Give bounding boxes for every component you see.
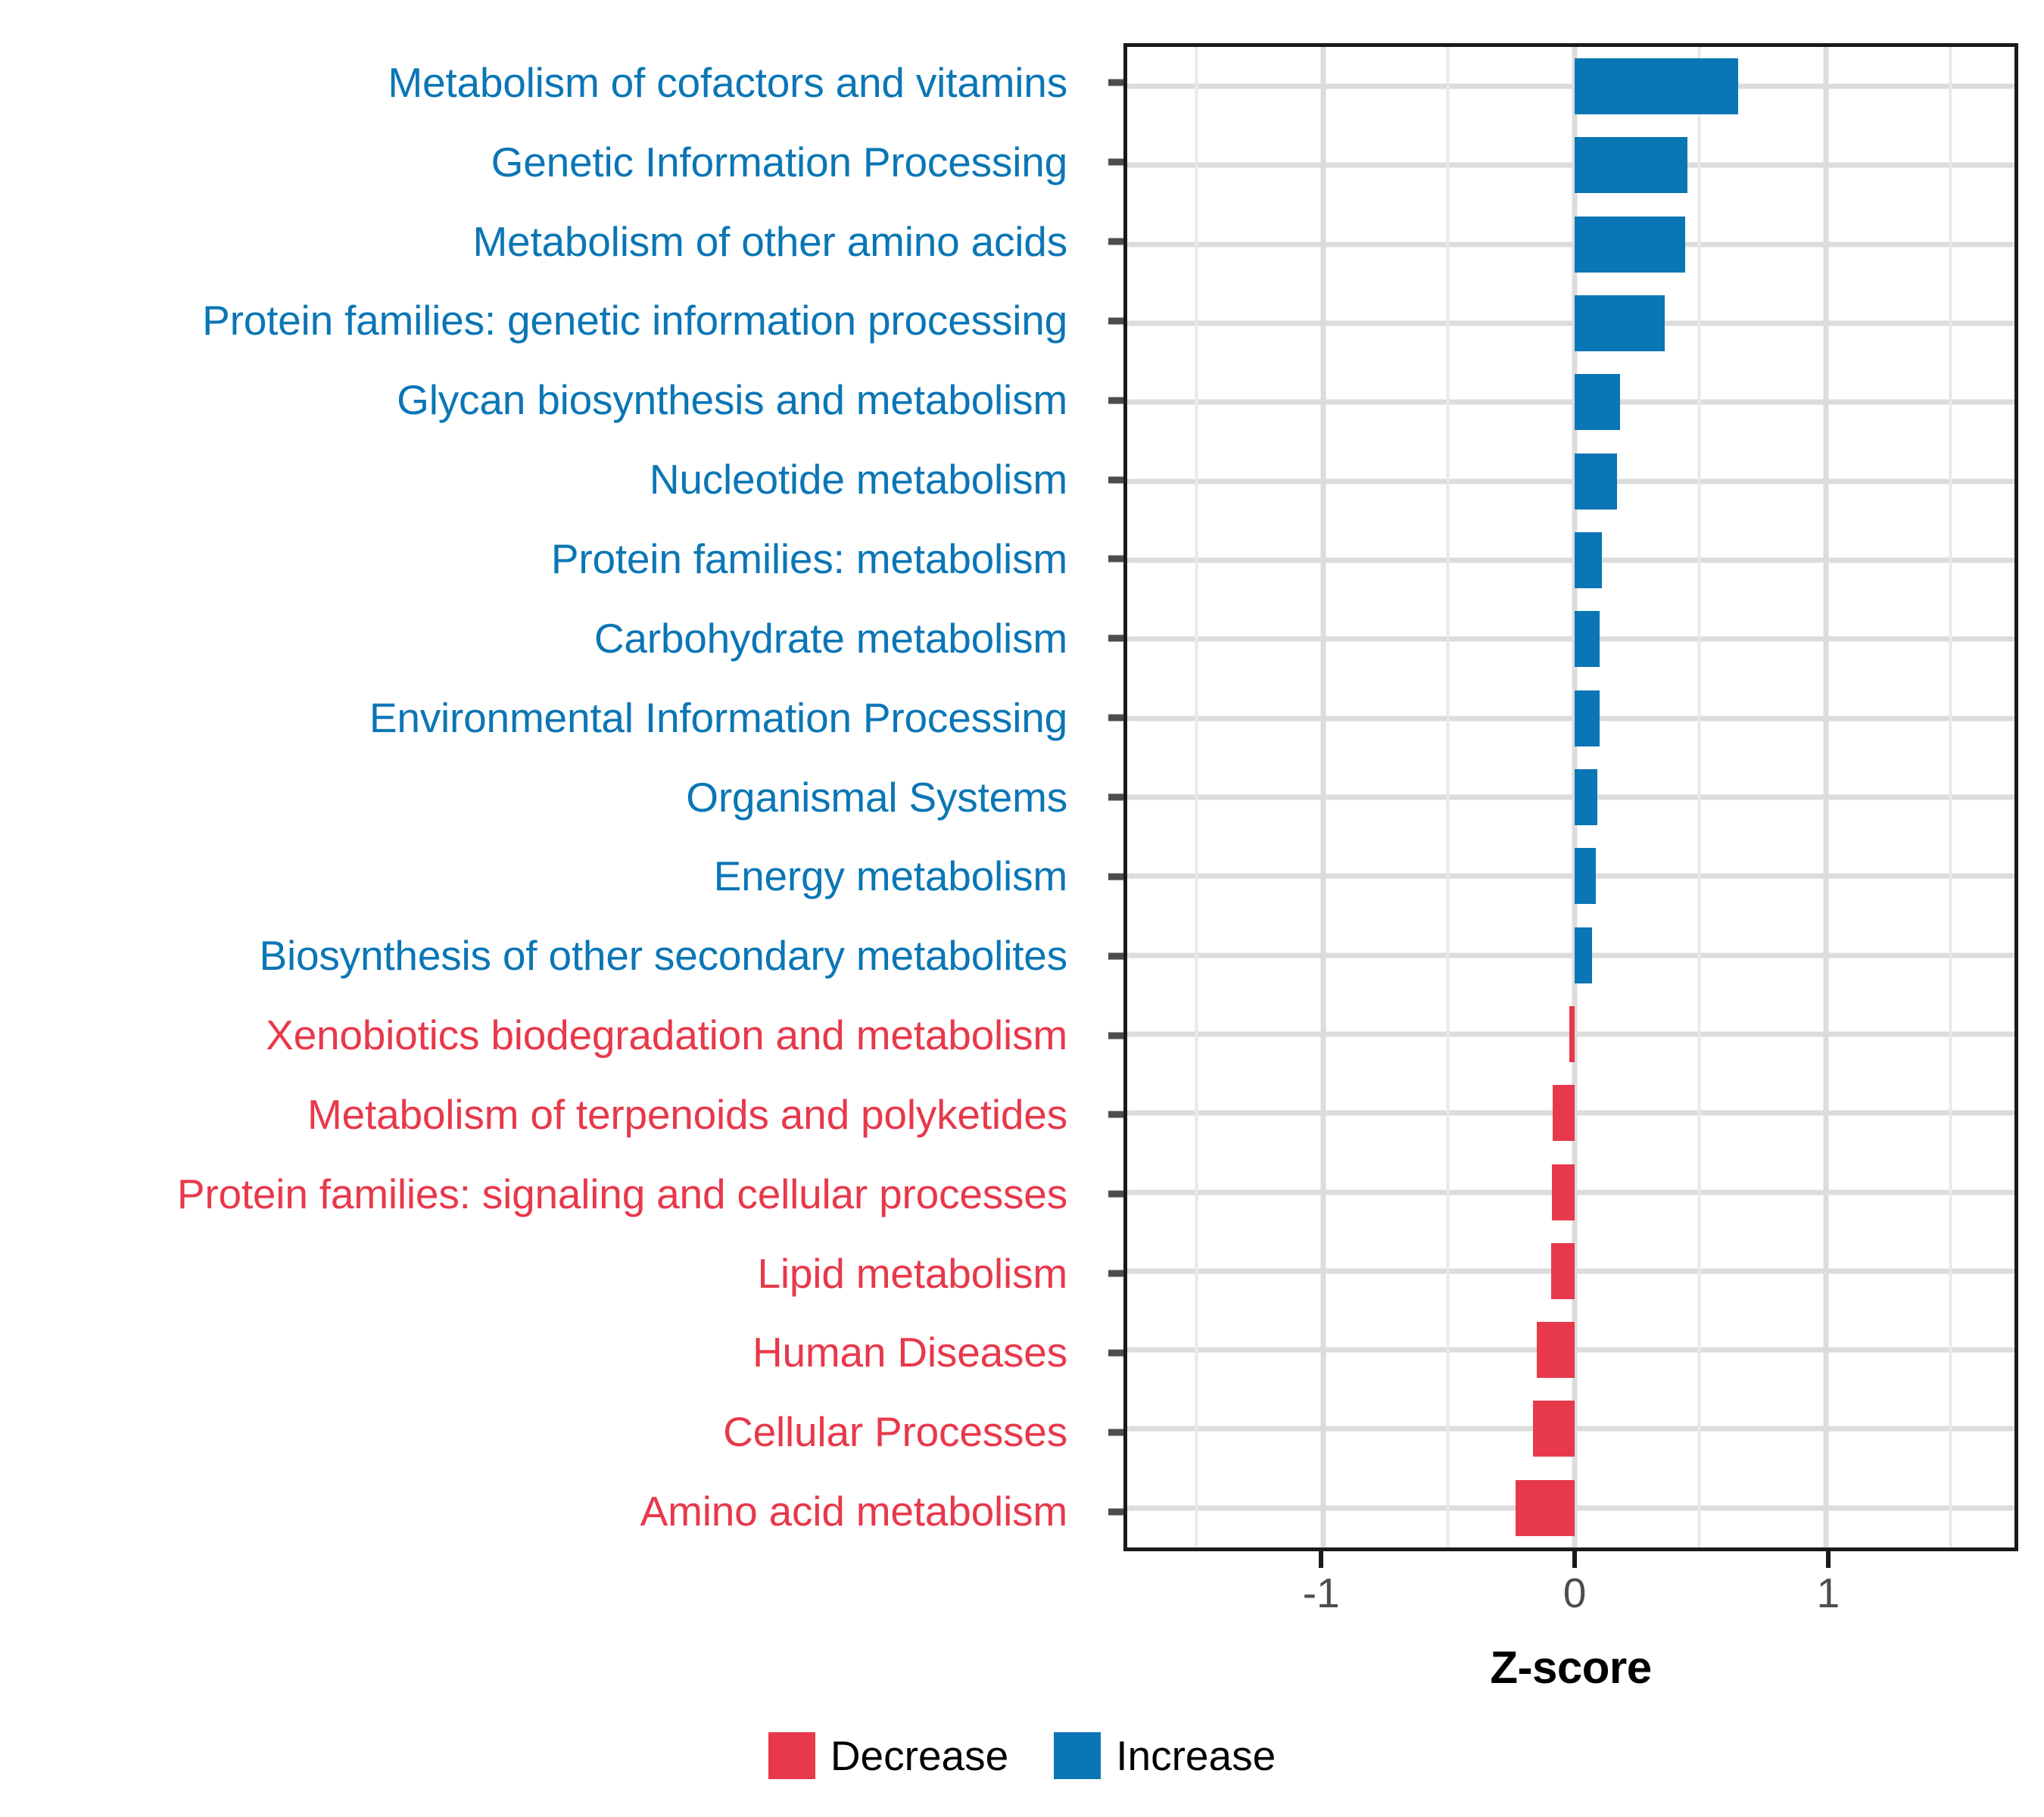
category-label: Nucleotide metabolism xyxy=(650,459,1067,500)
bar-row xyxy=(1127,1311,2014,1389)
x-axis-tick-label: 0 xyxy=(1563,1572,1587,1614)
kegg-zscore-barchart: Metabolism of cofactors and vitaminsGene… xyxy=(0,0,2044,1817)
x-axis-tick-mark xyxy=(1319,1551,1323,1568)
category-label-row: Energy metabolism xyxy=(0,837,1078,916)
category-label: Metabolism of terpenoids and polyketides xyxy=(307,1094,1067,1136)
bar-row xyxy=(1127,1074,2014,1152)
plot-panel xyxy=(1123,43,2018,1551)
category-label-row: Metabolism of terpenoids and polyketides xyxy=(0,1075,1078,1155)
category-tick-mark xyxy=(1108,715,1123,722)
bar xyxy=(1575,927,1592,983)
category-tick-mark xyxy=(1108,1429,1123,1435)
category-label-row: Protein families: metabolism xyxy=(0,519,1078,599)
bar-row xyxy=(1127,837,2014,915)
category-tick-row xyxy=(1108,1155,1123,1234)
category-axis-tickmarks xyxy=(1108,43,1123,1551)
category-tick-mark xyxy=(1108,1032,1123,1039)
category-tick-row xyxy=(1108,837,1123,916)
bar xyxy=(1537,1322,1575,1378)
category-label: Xenobiotics biodegradation and metabolis… xyxy=(266,1014,1067,1056)
category-tick-row xyxy=(1108,519,1123,599)
category-tick-mark xyxy=(1108,1270,1123,1277)
category-tick-mark xyxy=(1108,556,1123,563)
bar-row xyxy=(1127,1389,2014,1468)
bar xyxy=(1569,1006,1575,1062)
bar-row xyxy=(1127,442,2014,521)
bar xyxy=(1575,374,1620,430)
legend-label: Increase xyxy=(1116,1735,1276,1777)
bar xyxy=(1551,1243,1575,1299)
x-axis-tick-mark xyxy=(1826,1551,1831,1568)
category-label: Carbohydrate metabolism xyxy=(594,618,1067,659)
category-label: Lipid metabolism xyxy=(758,1253,1068,1295)
category-label-row: Protein families: genetic information pr… xyxy=(0,282,1078,361)
category-label-row: Protein families: signaling and cellular… xyxy=(0,1155,1078,1234)
category-tick-row xyxy=(1108,599,1123,678)
category-label-row: Metabolism of cofactors and vitamins xyxy=(0,43,1078,123)
category-label-row: Glycan biosynthesis and metabolism xyxy=(0,360,1078,440)
category-tick-row xyxy=(1108,758,1123,837)
category-label-row: Human Diseases xyxy=(0,1314,1078,1393)
bar-row xyxy=(1127,47,2014,126)
category-label: Protein families: metabolism xyxy=(551,538,1067,580)
category-label: Glycan biosynthesis and metabolism xyxy=(397,379,1067,421)
category-tick-mark xyxy=(1108,952,1123,959)
category-tick-mark xyxy=(1108,1508,1123,1515)
category-label-row: Organismal Systems xyxy=(0,758,1078,837)
bar xyxy=(1575,848,1596,904)
category-label-row: Environmental Information Processing xyxy=(0,678,1078,758)
category-label-row: Carbohydrate metabolism xyxy=(0,599,1078,678)
legend: DecreaseIncrease xyxy=(0,1732,2044,1779)
bar-row xyxy=(1127,284,2014,363)
category-label: Amino acid metabolism xyxy=(640,1491,1067,1532)
category-label-row: Xenobiotics biodegradation and metabolis… xyxy=(0,996,1078,1075)
bar-row xyxy=(1127,758,2014,837)
category-tick-row xyxy=(1108,678,1123,758)
square-swatch xyxy=(768,1732,815,1779)
category-label: Protein families: genetic information pr… xyxy=(202,300,1067,341)
x-axis-tick-label: 1 xyxy=(1817,1572,1840,1614)
category-label: Human Diseases xyxy=(752,1332,1067,1373)
bar-row xyxy=(1127,995,2014,1074)
category-label-row: Biosynthesis of other secondary metaboli… xyxy=(0,916,1078,996)
category-tick-row xyxy=(1108,1314,1123,1393)
category-tick-row xyxy=(1108,282,1123,361)
category-tick-row xyxy=(1108,43,1123,123)
bar-row xyxy=(1127,679,2014,758)
category-tick-row xyxy=(1108,202,1123,282)
category-tick-mark xyxy=(1108,1111,1123,1118)
category-tick-mark xyxy=(1108,476,1123,483)
category-label: Genetic Information Processing xyxy=(491,142,1067,183)
category-label-row: Lipid metabolism xyxy=(0,1234,1078,1314)
x-axis-title: Z-score xyxy=(1123,1641,2018,1694)
category-tick-row xyxy=(1108,996,1123,1075)
category-axis-labels: Metabolism of cofactors and vitaminsGene… xyxy=(0,43,1078,1551)
category-tick-mark xyxy=(1108,397,1123,404)
legend-item-increase[interactable]: Increase xyxy=(1054,1732,1276,1779)
bar-row xyxy=(1127,521,2014,600)
bar xyxy=(1575,295,1665,351)
bar-row xyxy=(1127,1152,2014,1231)
category-tick-mark xyxy=(1108,1349,1123,1356)
bar xyxy=(1575,58,1738,114)
bar xyxy=(1575,453,1617,510)
bar-row xyxy=(1127,1469,2014,1547)
category-label: Environmental Information Processing xyxy=(369,697,1067,739)
bar-row xyxy=(1127,363,2014,441)
square-swatch xyxy=(1054,1732,1101,1779)
bar xyxy=(1516,1480,1575,1536)
bar-row xyxy=(1127,1232,2014,1311)
legend-item-decrease[interactable]: Decrease xyxy=(768,1732,1008,1779)
category-tick-row xyxy=(1108,123,1123,202)
x-axis-tick-label: -1 xyxy=(1303,1572,1340,1614)
bar xyxy=(1575,769,1597,825)
category-label: Organismal Systems xyxy=(686,777,1067,818)
category-label-row: Genetic Information Processing xyxy=(0,123,1078,202)
bar-row xyxy=(1127,600,2014,678)
bar-row xyxy=(1127,915,2014,994)
plot-panel-inner xyxy=(1127,47,2014,1547)
bar xyxy=(1575,137,1687,193)
category-tick-mark xyxy=(1108,1191,1123,1198)
x-axis: -101 xyxy=(1123,1551,2018,1650)
category-label-row: Metabolism of other amino acids xyxy=(0,202,1078,282)
bar-row xyxy=(1127,126,2014,204)
category-label: Protein families: signaling and cellular… xyxy=(177,1173,1067,1215)
category-tick-row xyxy=(1108,1234,1123,1314)
category-label-row: Amino acid metabolism xyxy=(0,1472,1078,1551)
bar xyxy=(1552,1164,1575,1220)
category-tick-mark xyxy=(1108,317,1123,324)
category-tick-row xyxy=(1108,1075,1123,1155)
bar xyxy=(1575,611,1600,667)
category-tick-mark xyxy=(1108,794,1123,801)
category-tick-row xyxy=(1108,1392,1123,1472)
bar-row xyxy=(1127,205,2014,284)
category-tick-row xyxy=(1108,360,1123,440)
bar xyxy=(1553,1085,1575,1141)
bar xyxy=(1533,1401,1575,1457)
category-tick-row xyxy=(1108,916,1123,996)
bar xyxy=(1575,690,1600,746)
category-label: Metabolism of other amino acids xyxy=(472,221,1067,263)
category-label: Cellular Processes xyxy=(723,1411,1067,1453)
category-label-row: Cellular Processes xyxy=(0,1392,1078,1472)
category-tick-row xyxy=(1108,1472,1123,1551)
category-tick-row xyxy=(1108,440,1123,519)
legend-label: Decrease xyxy=(830,1735,1008,1777)
category-tick-mark xyxy=(1108,873,1123,880)
category-label: Biosynthesis of other secondary metaboli… xyxy=(259,935,1067,977)
category-tick-mark xyxy=(1108,238,1123,245)
category-label: Metabolism of cofactors and vitamins xyxy=(388,62,1067,104)
category-tick-mark xyxy=(1108,79,1123,86)
category-label-row: Nucleotide metabolism xyxy=(0,440,1078,519)
bar xyxy=(1575,217,1685,273)
category-tick-mark xyxy=(1108,159,1123,166)
category-label: Energy metabolism xyxy=(714,856,1067,897)
x-axis-tick-mark xyxy=(1572,1551,1577,1568)
bar xyxy=(1575,532,1603,588)
category-tick-mark xyxy=(1108,635,1123,642)
bar-series xyxy=(1127,47,2014,1547)
